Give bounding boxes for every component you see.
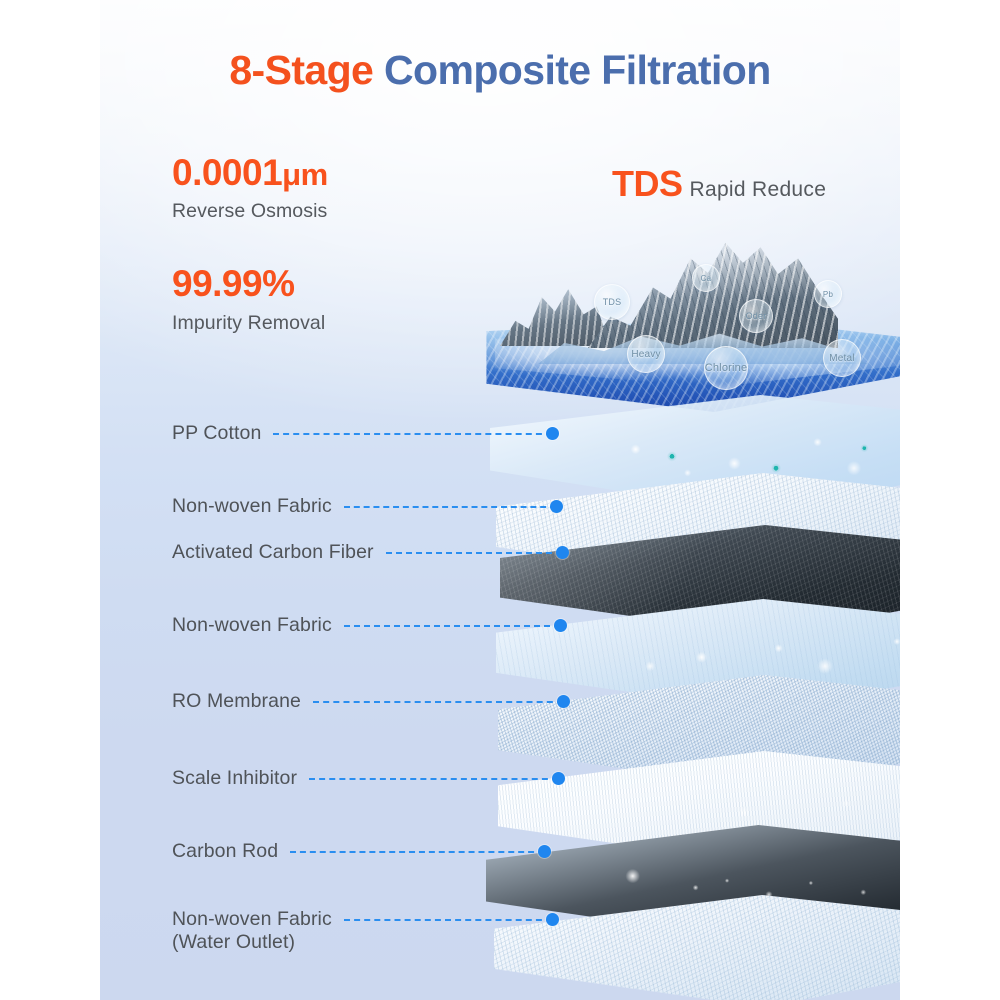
layer-label-2: Non-woven Fabric [172, 495, 332, 518]
layer-connector-line-1 [273, 433, 552, 435]
contaminant-bubble-label: Oder [746, 311, 767, 321]
layer-connector-line-5 [313, 701, 563, 703]
stat-value-micron: 0.0001μm [172, 152, 502, 193]
contaminant-bubble-label: Pb [823, 290, 833, 299]
contaminant-bubble: Oder [739, 299, 773, 333]
contaminant-bubble-label: Heavy [631, 349, 660, 360]
layer-label-text: Non-woven Fabric [172, 495, 332, 517]
layer-connector-dot-5 [557, 695, 570, 708]
contaminant-bubble: TDS [594, 284, 630, 320]
layer-label-8: Non-woven Fabric(Water Outlet) [172, 908, 332, 955]
layer-label-3: Activated Carbon Fiber [172, 541, 374, 564]
stat-number: 0.0001 [172, 152, 282, 193]
contaminant-bubble: Ca [692, 264, 720, 292]
layer-label-5: RO Membrane [172, 690, 301, 713]
tds-title: TDS [612, 163, 683, 205]
layer-label-4: Non-woven Fabric [172, 614, 332, 637]
layer-label-6: Scale Inhibitor [172, 767, 297, 790]
layer-label-text: Non-woven Fabric [172, 614, 332, 636]
layer-label-text: RO Membrane [172, 690, 301, 712]
layer-connector-dot-7 [538, 845, 551, 858]
tds-block: TDS Rapid Reduce [612, 163, 826, 205]
stats-block: 0.0001μm Reverse Osmosis 99.99% Impurity… [172, 152, 502, 335]
slab-weave-texture [494, 895, 900, 1000]
contaminant-bubble-label: Metal [829, 353, 854, 364]
stat-caption-reverse-osmosis: Reverse Osmosis [172, 200, 502, 223]
title-highlight: 8-Stage [229, 47, 373, 93]
stats-spacer [172, 223, 502, 263]
layer-connector-dot-8 [546, 913, 559, 926]
layer-slab-nonwoven-outlet [494, 895, 900, 1000]
contaminant-bubble: Heavy [627, 335, 665, 373]
layer-sublabel-text: (Water Outlet) [172, 931, 332, 954]
stat-caption-impurity-removal: Impurity Removal [172, 312, 502, 335]
contaminant-bubble-label: Ca [701, 274, 712, 283]
layer-label-1: PP Cotton [172, 422, 261, 445]
layer-connector-line-7 [290, 851, 544, 853]
layer-connector-dot-1 [546, 427, 559, 440]
layer-connector-dot-6 [552, 772, 565, 785]
title-main: Composite Filtration [384, 47, 771, 93]
layer-connector-line-2 [344, 506, 556, 508]
layer-connector-line-4 [344, 625, 560, 627]
layer-label-7: Carbon Rod [172, 840, 278, 863]
mountain-peak-left [500, 280, 610, 346]
layer-label-text: Non-woven Fabric [172, 908, 332, 930]
layer-connector-line-6 [309, 778, 558, 780]
layer-connector-dot-4 [554, 619, 567, 632]
layer-label-text: Carbon Rod [172, 840, 278, 862]
stat-unit: μm [282, 157, 328, 192]
page-title: 8-Stage Composite Filtration [100, 48, 900, 92]
infographic-canvas: 8-Stage Composite Filtration 0.0001μm Re… [0, 0, 1000, 1000]
contaminant-bubble: Pb [814, 280, 842, 308]
layer-connector-dot-2 [550, 500, 563, 513]
stat-value-percent: 99.99% [172, 263, 502, 304]
contaminant-bubble-label: TDS [603, 297, 622, 307]
layer-label-text: PP Cotton [172, 422, 261, 444]
layer-connector-line-8 [344, 919, 552, 921]
layer-connector-line-3 [386, 552, 562, 554]
layer-connector-dot-3 [556, 546, 569, 559]
tds-subtitle: Rapid Reduce [690, 178, 827, 202]
layer-label-text: Scale Inhibitor [172, 767, 297, 789]
layer-label-text: Activated Carbon Fiber [172, 541, 374, 563]
contaminant-bubble-label: Chlorine [705, 362, 748, 374]
contaminant-bubble: Chlorine [704, 346, 748, 390]
iceberg-mountain-illustration: TDSCaPbOderHeavyChlorineMetal [478, 222, 900, 412]
contaminant-bubble: Metal [823, 339, 861, 377]
